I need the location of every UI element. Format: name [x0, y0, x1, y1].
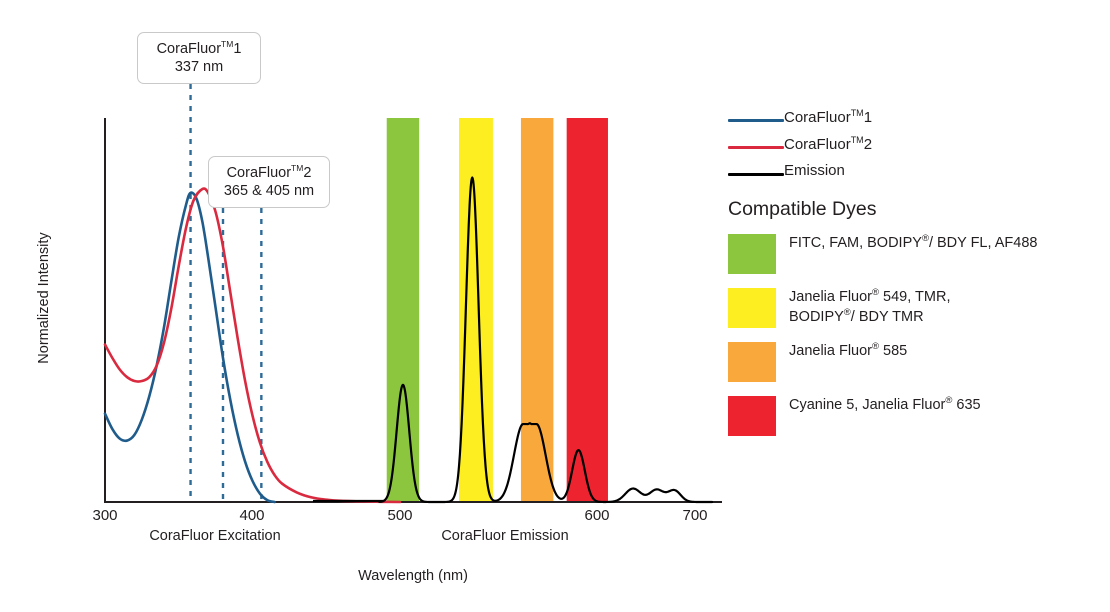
excitation-region-label: CoraFluor Excitation [115, 528, 315, 544]
dye-label: FITC, FAM, BODIPY®/ BDY FL, AF488 [789, 233, 1037, 253]
x-tick-300: 300 [75, 507, 135, 524]
callout-corafluor2-line1: CoraFluorTM2 [219, 163, 319, 183]
dye-bands-group [387, 118, 608, 502]
y-axis-title: Normalized Intensity [36, 213, 52, 383]
legend-line-swatch [728, 119, 784, 122]
curve-corafluor2 [105, 189, 400, 502]
callout-corafluor1-line2: 337 nm [148, 59, 250, 77]
orange-band [521, 118, 553, 502]
series-legend: CoraFluorTM1CoraFluorTM2Emission [728, 108, 1110, 189]
red-band [567, 118, 608, 502]
x-tick-700: 700 [665, 507, 725, 524]
yellow-band [459, 118, 493, 502]
emission-region-label: CoraFluor Emission [410, 528, 600, 544]
legend-item-1: CoraFluorTM2 [728, 135, 1110, 162]
dye-label: Janelia Fluor® 549, TMR,BODIPY®/ BDY TMR [789, 287, 950, 327]
legend-panel: CoraFluorTM1CoraFluorTM2Emission Compati… [728, 0, 1110, 612]
dye-color-swatch [728, 234, 776, 274]
legend-line-swatch [728, 146, 784, 149]
dye-color-swatch [728, 342, 776, 382]
legend-label: CoraFluorTM1 [784, 108, 872, 126]
x-tick-500: 500 [370, 507, 430, 524]
dye-color-swatch [728, 396, 776, 436]
green-band [387, 118, 419, 502]
excitation-marker-lines-group [191, 84, 262, 502]
callout-corafluor1-line1: CoraFluorTM1 [148, 39, 250, 59]
x-tick-400: 400 [222, 507, 282, 524]
legend-item-2: Emission [728, 162, 1110, 189]
callout-corafluor2-line2: 365 & 405 nm [219, 183, 319, 201]
dye-label: Cyanine 5, Janelia Fluor® 635 [789, 395, 981, 415]
legend-item-0: CoraFluorTM1 [728, 108, 1110, 135]
callout-corafluor2: CoraFluorTM2 365 & 405 nm [208, 156, 330, 208]
chart-container: CoraFluorTM1 337 nm CoraFluorTM2 365 & 4… [0, 0, 730, 612]
x-axis-title: Wavelength (nm) [263, 568, 563, 584]
dye-color-swatch [728, 288, 776, 328]
compatible-dyes-title: Compatible Dyes [728, 198, 876, 221]
legend-line-swatch [728, 173, 784, 176]
legend-label: CoraFluorTM2 [784, 135, 872, 153]
dye-label: Janelia Fluor® 585 [789, 341, 907, 361]
legend-label: Emission [784, 162, 845, 179]
x-tick-600: 600 [567, 507, 627, 524]
callout-corafluor1: CoraFluorTM1 337 nm [137, 32, 261, 84]
